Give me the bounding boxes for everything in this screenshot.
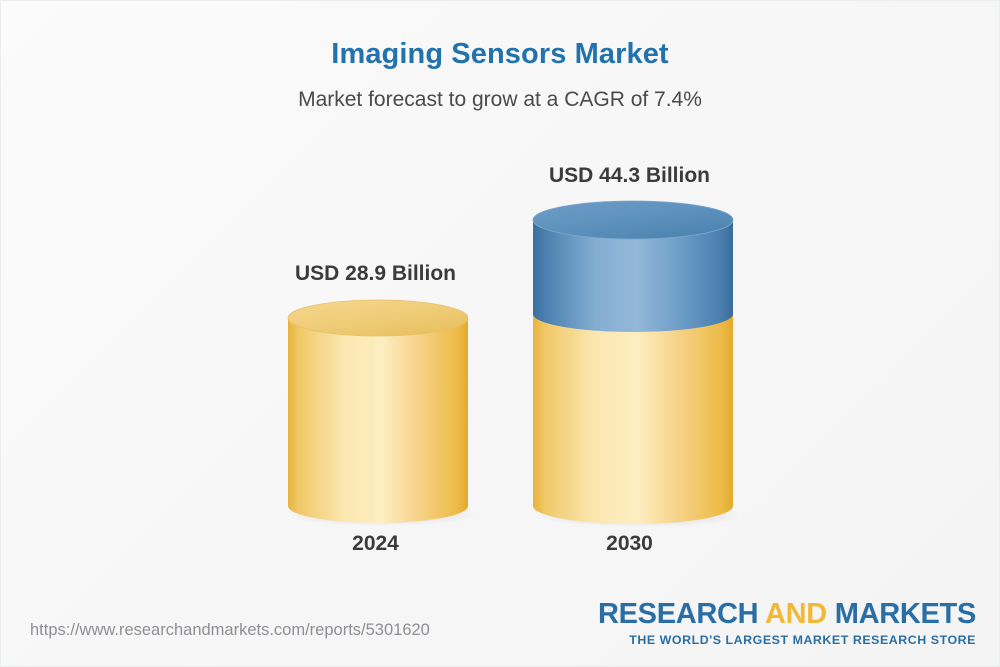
bar-2024-body	[288, 318, 468, 523]
brand-word-markets: MARKETS	[827, 598, 976, 630]
chart-canvas: Imaging Sensors Market Market forecast t…	[0, 0, 1000, 667]
bar-2030-base-segment	[533, 314, 733, 524]
bar-2024-value-label: USD 28.9 Billion	[188, 262, 563, 286]
brand-word-and: AND	[765, 598, 827, 630]
bar-2024-cylinder	[282, 296, 474, 526]
brand-logo: RESEARCH AND MARKETS THE WORLD'S LARGEST…	[598, 600, 976, 646]
brand-tagline: THE WORLD'S LARGEST MARKET RESEARCH STOR…	[598, 634, 976, 646]
brand-wordmark: RESEARCH AND MARKETS	[598, 600, 976, 629]
bar-2030-cylinder	[527, 196, 739, 526]
chart-plot-area: USD 28.9 Billion USD 44.3 Billion 2024 2…	[0, 0, 1000, 667]
bar-2030-value-label: USD 44.3 Billion	[442, 164, 817, 188]
brand-word-research: RESEARCH	[598, 598, 765, 630]
report-url[interactable]: https://www.researchandmarkets.com/repor…	[30, 621, 430, 640]
bar-2030-category-label: 2030	[442, 532, 817, 556]
